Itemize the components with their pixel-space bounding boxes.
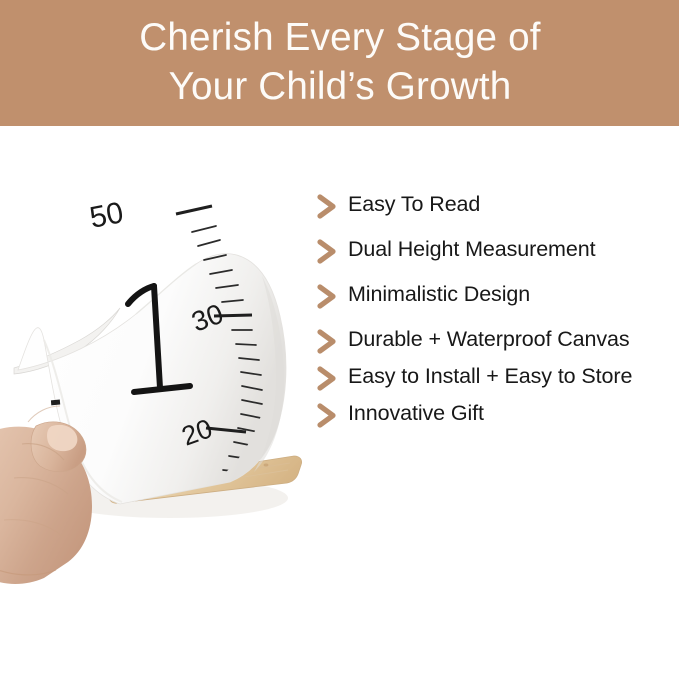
feature-label: Dual Height Measurement: [348, 237, 595, 262]
chevron-right-icon: [316, 239, 338, 265]
feature-item-minimalistic-design: Minimalistic Design: [316, 282, 679, 310]
feature-label: Minimalistic Design: [348, 282, 530, 307]
feature-item-easy-to-install-store: Easy to Install + Easy to Store: [316, 364, 679, 392]
chevron-right-icon: [316, 366, 338, 392]
header-banner: Cherish Every Stage of Your Child’s Grow…: [0, 0, 679, 126]
infographic-page: Cherish Every Stage of Your Child’s Grow…: [0, 0, 679, 679]
feature-item-easy-to-read: Easy To Read: [316, 192, 679, 220]
feature-label: Durable + Waterproof Canvas: [348, 327, 630, 352]
page-title: Cherish Every Stage of Your Child’s Grow…: [23, 14, 657, 112]
feature-item-innovative-gift: Innovative Gift: [316, 401, 679, 429]
chevron-right-icon: [316, 403, 338, 429]
chevron-right-icon: [316, 329, 338, 355]
feature-list: Easy To Read Dual Height Measurement Min…: [316, 192, 679, 438]
product-photo: 50 30 20: [0, 126, 318, 596]
main-content: 50 30 20: [0, 126, 679, 679]
feature-item-dual-height-measurement: Dual Height Measurement: [316, 237, 679, 265]
chevron-right-icon: [316, 194, 338, 220]
feature-label: Easy To Read: [348, 192, 480, 217]
feature-item-durable-waterproof-canvas: Durable + Waterproof Canvas: [316, 327, 679, 355]
feature-label: Easy to Install + Easy to Store: [348, 364, 632, 389]
chevron-right-icon: [316, 284, 338, 310]
feature-label: Innovative Gift: [348, 401, 484, 426]
